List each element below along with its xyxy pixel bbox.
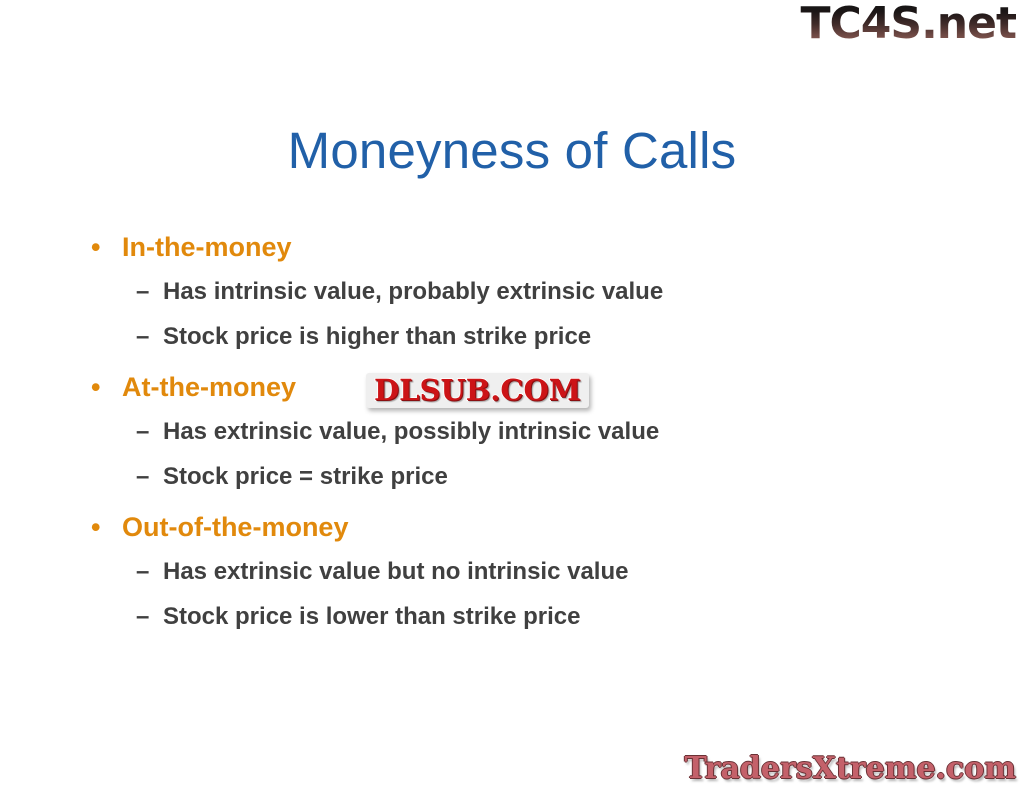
bullet-dot-icon: • [91, 368, 100, 406]
bullet-heading-label: Out-of-the-money [122, 512, 348, 542]
sub-bullet-item: – Stock price is higher than strike pric… [88, 319, 948, 364]
sub-bullet-label: Stock price = strike price [163, 463, 448, 490]
dash-marker-icon: – [136, 554, 149, 590]
bullet-heading-in-the-money: • In-the-money [88, 228, 948, 274]
dash-marker-icon: – [136, 274, 149, 310]
bullet-group-in-the-money: • In-the-money – Has intrinsic value, pr… [88, 228, 948, 364]
sub-bullet-item: – Stock price = strike price [88, 459, 948, 504]
sub-bullet-item: – Has extrinsic value but no intrinsic v… [88, 554, 948, 599]
bullet-dot-icon: • [91, 508, 100, 546]
sub-bullet-item: – Has extrinsic value, possibly intrinsi… [88, 414, 948, 459]
dlsub-watermark: DLSUB.COM [366, 373, 589, 408]
sub-bullet-label: Has extrinsic value but no intrinsic val… [163, 558, 628, 585]
dash-marker-icon: – [136, 459, 149, 495]
sub-bullet-label: Stock price is higher than strike price [163, 323, 591, 350]
sub-bullet-item: – Stock price is lower than strike price [88, 599, 948, 644]
bullet-heading-label: At-the-money [122, 372, 296, 402]
bullet-heading-label: In-the-money [122, 232, 292, 262]
tradersxtreme-logo: TradersXtreme.com [685, 752, 1016, 785]
dash-marker-icon: – [136, 319, 149, 355]
sub-bullet-label: Has extrinsic value, possibly intrinsic … [163, 418, 659, 445]
dash-marker-icon: – [136, 599, 149, 635]
tc4s-logo: TC4S.net [800, 2, 1016, 46]
presentation-slide: TC4S.net Moneyness of Calls • In-the-mon… [0, 0, 1024, 791]
bullet-list: • In-the-money – Has intrinsic value, pr… [88, 228, 948, 648]
dash-marker-icon: – [136, 414, 149, 450]
bullet-dot-icon: • [91, 228, 100, 266]
sub-bullet-item: – Has intrinsic value, probably extrinsi… [88, 274, 948, 319]
page-title: Moneyness of Calls [0, 122, 1024, 181]
sub-bullet-label: Has intrinsic value, probably extrinsic … [163, 278, 663, 305]
bullet-heading-out-of-the-money: • Out-of-the-money [88, 508, 948, 554]
sub-bullet-label: Stock price is lower than strike price [163, 603, 581, 630]
bullet-group-out-of-the-money: • Out-of-the-money – Has extrinsic value… [88, 508, 948, 644]
